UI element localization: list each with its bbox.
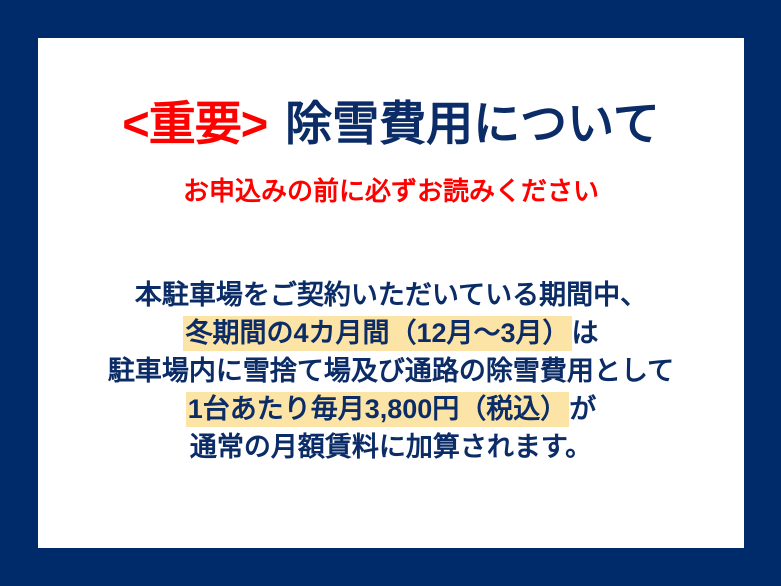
body-text-plain: が <box>569 394 596 424</box>
notice-body-line-3: 駐車場内に雪捨て場及び通路の除雪費用として <box>38 352 744 390</box>
notice-subtitle: お申込みの前に必ずお読みください <box>38 177 744 206</box>
notice-body-line-5: 通常の月額賃料に加算されます。 <box>38 428 744 466</box>
notice-frame: <重要> 除雪費用について お申込みの前に必ずお読みください 本駐車場をご契約い… <box>0 0 781 586</box>
notice-body-line-4: 1台あたり毎月3,800円（税込）が <box>38 390 744 428</box>
page-title: 除雪費用について <box>285 100 660 147</box>
body-text-plain: 本駐車場をご契約いただいている期間中、 <box>135 280 647 310</box>
important-tag-label: <重要> <box>122 100 267 147</box>
notice-body: 本駐車場をご契約いただいている期間中、 冬期間の4カ月間（12月～3月）は 駐車… <box>38 276 744 466</box>
body-text-plain: は <box>572 318 599 348</box>
highlighted-monthly-fee: 1台あたり毎月3,800円（税込） <box>186 392 570 427</box>
notice-body-line-1: 本駐車場をご契約いただいている期間中、 <box>38 276 744 314</box>
body-text-plain: 通常の月額賃料に加算されます。 <box>190 432 592 462</box>
notice-body-line-2: 冬期間の4カ月間（12月～3月）は <box>38 314 744 352</box>
notice-panel: <重要> 除雪費用について お申込みの前に必ずお読みください 本駐車場をご契約い… <box>38 38 744 548</box>
body-text-plain: 駐車場内に雪捨て場及び通路の除雪費用として <box>108 356 674 386</box>
highlighted-winter-period: 冬期間の4カ月間（12月～3月） <box>183 316 571 351</box>
notice-title: <重要> 除雪費用について <box>38 100 744 147</box>
